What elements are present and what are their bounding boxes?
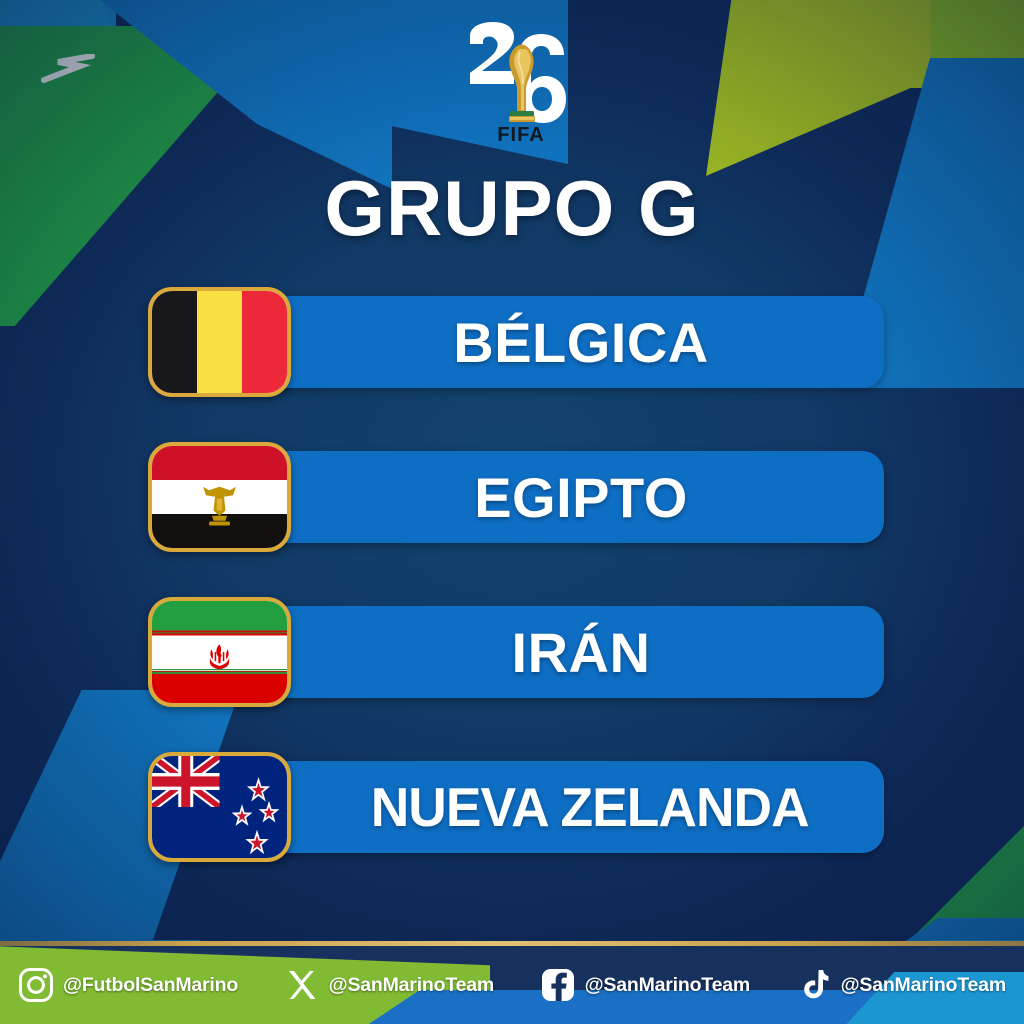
fifa-wordmark: FIFA — [497, 124, 544, 146]
social-tiktok[interactable]: @SanMarinoTeam — [796, 967, 1006, 1003]
social-handle: @FutbolSanMarino — [63, 974, 238, 997]
x-twitter-icon[interactable] — [284, 967, 320, 1003]
team-row-egypt[interactable]: EGIPTO — [0, 442, 1024, 552]
team-name-label: NUEVA ZELANDA — [222, 761, 874, 853]
team-name-label: IRÁN — [212, 606, 884, 698]
social-facebook[interactable]: @SanMarinoTeam — [540, 967, 750, 1003]
team-name-label: EGIPTO — [212, 451, 884, 543]
instagram-icon[interactable] — [18, 967, 54, 1003]
social-handle: @SanMarinoTeam — [329, 974, 494, 997]
footer-social-bar: @FutbolSanMarino @SanMarinoTeam @SanMari… — [0, 946, 1024, 1024]
tiktok-icon[interactable] — [796, 967, 832, 1003]
fifa-26-world-cup-logo: FIFA — [462, 22, 572, 152]
team-row-iran[interactable]: IRÁN — [0, 597, 1024, 707]
team-row-belgium[interactable]: BÉLGICA — [0, 287, 1024, 397]
team-bar[interactable]: BÉLGICA — [212, 296, 884, 388]
social-handle: @SanMarinoTeam — [585, 974, 750, 997]
team-name-label: BÉLGICA — [212, 296, 884, 388]
team-bar[interactable]: NUEVA ZELANDA — [212, 761, 884, 853]
social-x-twitter[interactable]: @SanMarinoTeam — [284, 967, 494, 1003]
social-handle: @SanMarinoTeam — [841, 974, 1006, 997]
team-bar[interactable]: EGIPTO — [212, 451, 884, 543]
belgium-flag-icon — [148, 287, 291, 397]
iran-flag-icon — [148, 597, 291, 707]
group-g-graphic: FIFA GRUPO G BÉLGICA EGIPTO — [0, 0, 1024, 1024]
team-bar[interactable]: IRÁN — [212, 606, 884, 698]
social-instagram[interactable]: @FutbolSanMarino — [18, 967, 238, 1003]
page-title: GRUPO G — [0, 163, 1024, 254]
team-row-new-zealand[interactable]: NUEVA ZELANDA — [0, 752, 1024, 862]
facebook-icon[interactable] — [540, 967, 576, 1003]
team-list: BÉLGICA EGIPTO — [0, 287, 1024, 907]
egypt-flag-icon — [148, 442, 291, 552]
new-zealand-flag-icon — [148, 752, 291, 862]
